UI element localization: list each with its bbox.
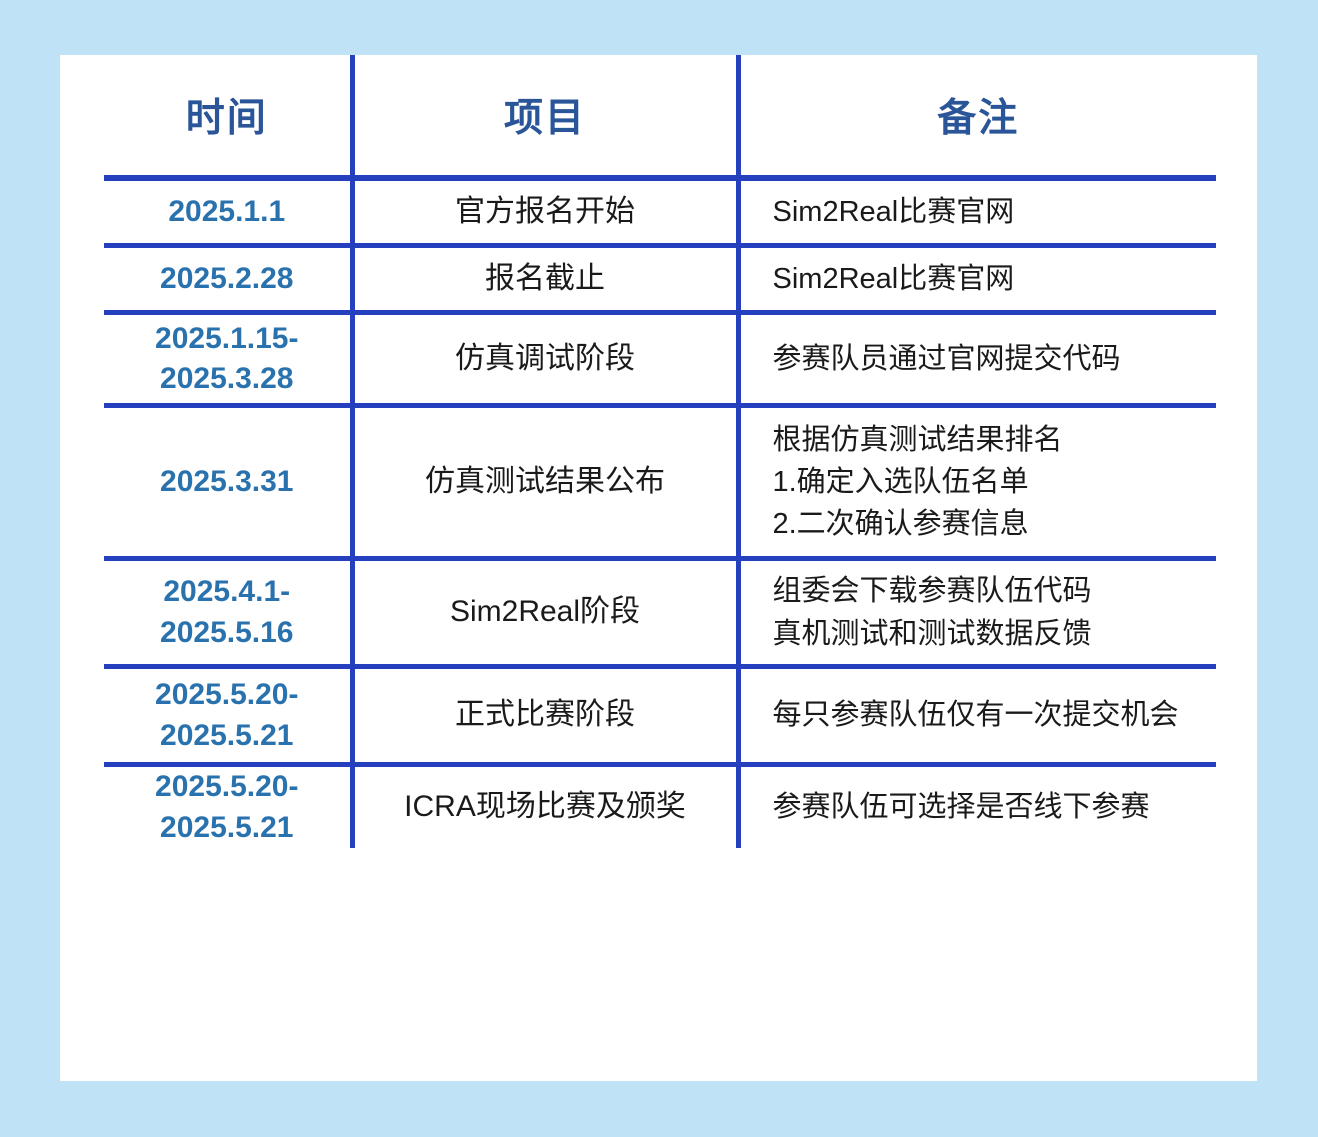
- cell-remark: Sim2Real比赛官网: [738, 178, 1216, 246]
- remark-line: 组委会下载参赛队伍代码: [773, 570, 1209, 612]
- column-header-time: 时间: [104, 55, 352, 178]
- table-row: 2025.5.20- 2025.5.21 ICRA现场比赛及颁奖 参赛队伍可选择…: [104, 765, 1216, 849]
- cell-time: 2025.5.20- 2025.5.21: [104, 667, 352, 765]
- table-header-row: 时间 项目 备注: [104, 55, 1216, 178]
- cell-item: ICRA现场比赛及颁奖: [352, 765, 738, 849]
- remark-line: 真机测试和测试数据反馈: [773, 613, 1209, 655]
- time-line: 2025.1.1: [104, 192, 350, 233]
- cell-remark: 根据仿真测试结果排名 1.确定入选队伍名单 2.二次确认参赛信息: [738, 406, 1216, 559]
- remark-line: 2.二次确认参赛信息: [773, 503, 1209, 545]
- cell-remark: Sim2Real比赛官网: [738, 246, 1216, 313]
- cell-remark: 组委会下载参赛队伍代码 真机测试和测试数据反馈: [738, 559, 1216, 667]
- cell-remark: 参赛队伍可选择是否线下参赛: [738, 765, 1216, 849]
- column-header-remark: 备注: [738, 55, 1216, 178]
- cell-item: 仿真测试结果公布: [352, 406, 738, 559]
- time-line: 2025.5.21: [104, 808, 350, 849]
- table-header: 时间 项目 备注: [104, 55, 1216, 178]
- schedule-page: 时间 项目 备注 2025.1.1 官方报名开始 Sim2Real比赛官网: [0, 0, 1318, 1137]
- time-line: 2025.5.16: [104, 613, 350, 654]
- time-line: 2025.5.20-: [104, 675, 350, 716]
- table-row: 2025.5.20- 2025.5.21 正式比赛阶段 每只参赛队伍仅有一次提交…: [104, 667, 1216, 765]
- cell-item: 报名截止: [352, 246, 738, 313]
- cell-item: 官方报名开始: [352, 178, 738, 246]
- table-row: 2025.4.1- 2025.5.16 Sim2Real阶段 组委会下载参赛队伍…: [104, 559, 1216, 667]
- table-row: 2025.2.28 报名截止 Sim2Real比赛官网: [104, 246, 1216, 313]
- table-row: 2025.1.15- 2025.3.28 仿真调试阶段 参赛队员通过官网提交代码: [104, 313, 1216, 406]
- cell-time: 2025.1.15- 2025.3.28: [104, 313, 352, 406]
- schedule-card: 时间 项目 备注 2025.1.1 官方报名开始 Sim2Real比赛官网: [60, 55, 1257, 1081]
- time-line: 2025.4.1-: [104, 572, 350, 613]
- cell-time: 2025.4.1- 2025.5.16: [104, 559, 352, 667]
- time-line: 2025.5.21: [104, 716, 350, 757]
- cell-item: 仿真调试阶段: [352, 313, 738, 406]
- cell-remark: 每只参赛队伍仅有一次提交机会: [738, 667, 1216, 765]
- cell-time: 2025.2.28: [104, 246, 352, 313]
- table-row: 2025.1.1 官方报名开始 Sim2Real比赛官网: [104, 178, 1216, 246]
- remark-line: 根据仿真测试结果排名: [773, 419, 1209, 461]
- schedule-table: 时间 项目 备注 2025.1.1 官方报名开始 Sim2Real比赛官网: [104, 55, 1216, 848]
- column-header-item: 项目: [352, 55, 738, 178]
- remark-line: 参赛队伍可选择是否线下参赛: [773, 786, 1209, 828]
- remark-line: Sim2Real比赛官网: [773, 191, 1209, 233]
- time-line: 2025.5.20-: [104, 767, 350, 808]
- cell-item: Sim2Real阶段: [352, 559, 738, 667]
- cell-remark: 参赛队员通过官网提交代码: [738, 313, 1216, 406]
- remark-line: 每只参赛队伍仅有一次提交机会: [773, 694, 1209, 736]
- table-body: 2025.1.1 官方报名开始 Sim2Real比赛官网 2025.2.28 报…: [104, 178, 1216, 848]
- time-line: 2025.3.31: [104, 462, 350, 503]
- time-line: 2025.1.15-: [104, 319, 350, 360]
- cell-time: 2025.1.1: [104, 178, 352, 246]
- cell-time: 2025.5.20- 2025.5.21: [104, 765, 352, 849]
- time-line: 2025.2.28: [104, 259, 350, 300]
- cell-item: 正式比赛阶段: [352, 667, 738, 765]
- time-line: 2025.3.28: [104, 359, 350, 400]
- remark-line: 参赛队员通过官网提交代码: [773, 338, 1209, 380]
- remark-line: Sim2Real比赛官网: [773, 258, 1209, 300]
- cell-time: 2025.3.31: [104, 406, 352, 559]
- remark-line: 1.确定入选队伍名单: [773, 461, 1209, 503]
- table-row: 2025.3.31 仿真测试结果公布 根据仿真测试结果排名 1.确定入选队伍名单…: [104, 406, 1216, 559]
